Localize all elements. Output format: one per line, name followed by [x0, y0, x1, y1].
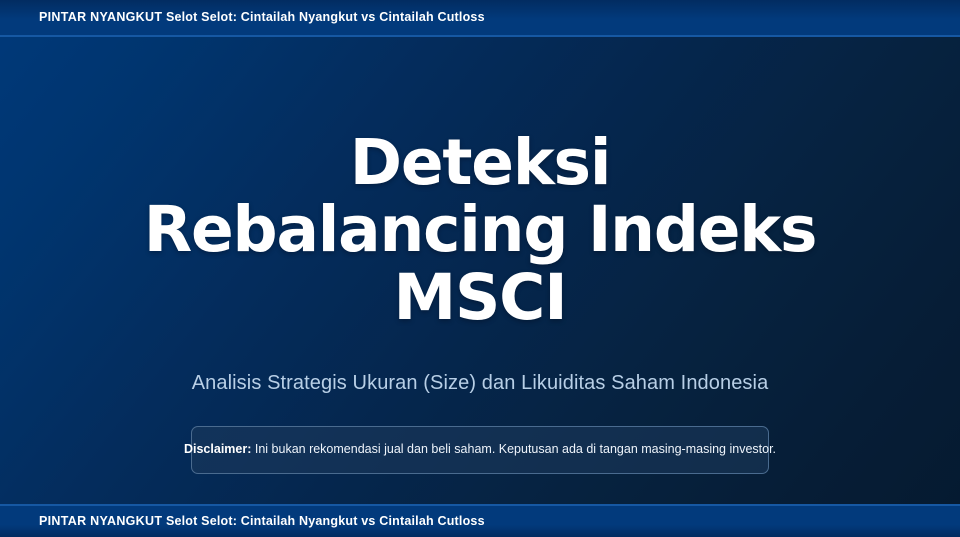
brand-tagline: Selot Selot: Cintailah Nyangkut vs Cinta… — [162, 10, 484, 24]
bottom-brand-tagline: Selot Selot: Cintailah Nyangkut vs Cinta… — [162, 514, 484, 528]
disclaimer-body: Ini bukan rekomendasi jual dan beli saha… — [251, 442, 776, 456]
bottom-banner: PINTAR NYANGKUT Selot Selot: Cintailah N… — [0, 504, 960, 537]
slide-root: PINTAR NYANGKUT Selot Selot: Cintailah N… — [0, 0, 960, 537]
top-banner-text: PINTAR NYANGKUT Selot Selot: Cintailah N… — [39, 11, 485, 24]
bottom-banner-text: PINTAR NYANGKUT Selot Selot: Cintailah N… — [39, 515, 485, 528]
disclaimer-label: Disclaimer: — [184, 442, 251, 456]
brand-name: PINTAR NYANGKUT — [39, 10, 162, 24]
disclaimer-text: Disclaimer: Ini bukan rekomendasi jual d… — [184, 442, 776, 458]
page-subtitle: Analisis Strategis Ukuran (Size) dan Lik… — [192, 331, 769, 395]
disclaimer-box: Disclaimer: Ini bukan rekomendasi jual d… — [191, 426, 769, 474]
bottom-brand-name: PINTAR NYANGKUT — [39, 514, 162, 528]
hero-stage: Deteksi Rebalancing Indeks MSCI Analisis… — [0, 37, 960, 504]
page-title: Deteksi Rebalancing Indeks MSCI — [130, 129, 830, 331]
top-banner: PINTAR NYANGKUT Selot Selot: Cintailah N… — [0, 0, 960, 37]
